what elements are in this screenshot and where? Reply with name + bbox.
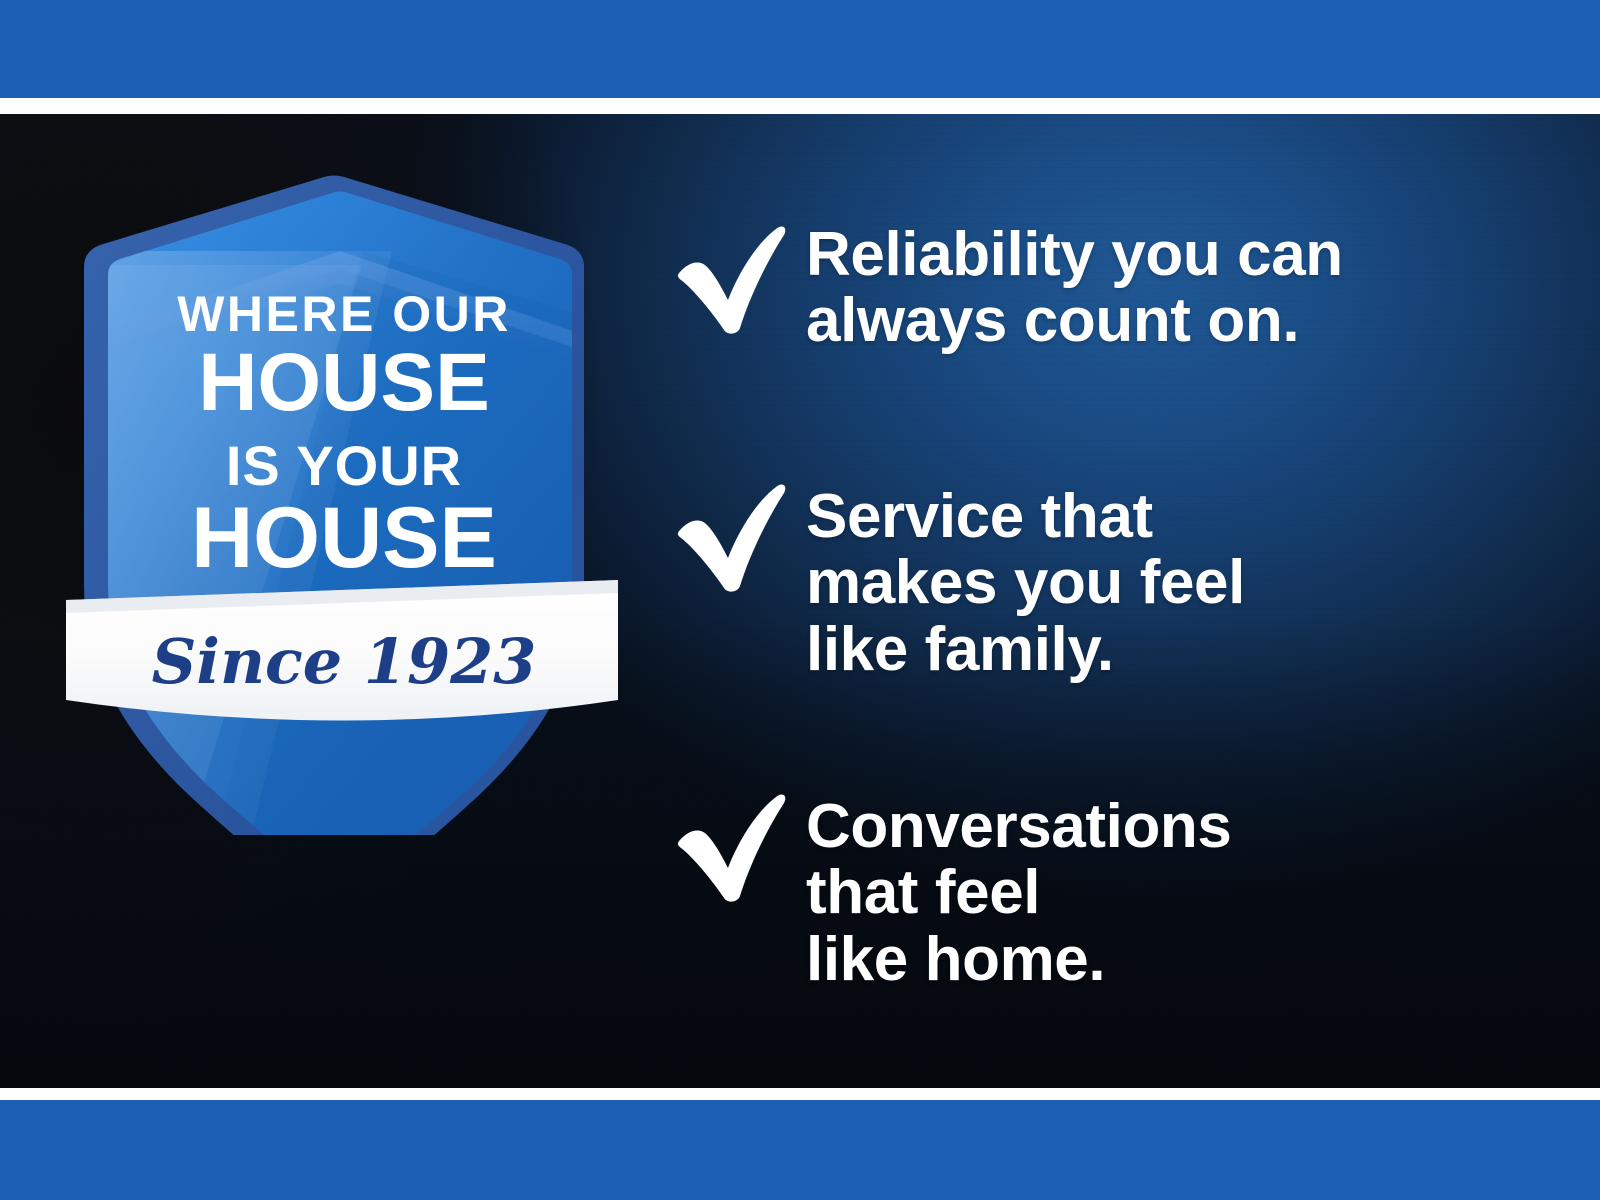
- since-ribbon: Since 1923: [66, 580, 618, 721]
- promo-graphic: WHERE OUR HOUSE IS YOUR HOUSE Since 1923…: [0, 0, 1600, 1200]
- bottom-brand-bar: [0, 1100, 1600, 1200]
- top-brand-bar: [0, 0, 1600, 98]
- checkmark-icon: [668, 786, 792, 904]
- company-logo: WHERE OUR HOUSE IS YOUR HOUSE Since 1923: [62, 155, 622, 835]
- shield-line-4: HOUSE: [191, 490, 497, 586]
- benefits-checklist: Reliability you can always count on. Ser…: [668, 114, 1568, 1088]
- since-ribbon-text: Since 1923: [152, 625, 537, 698]
- checklist-item-text: Service that makes you feel like family.: [806, 476, 1245, 683]
- shield-logo-graphic: WHERE OUR HOUSE IS YOUR HOUSE Since 1923: [62, 155, 622, 835]
- checkmark-icon: [668, 476, 792, 594]
- checklist-item-text: Reliability you can always count on.: [806, 218, 1343, 355]
- checkmark-icon: [668, 218, 792, 336]
- checklist-item-text: Conversations that feel like home.: [806, 786, 1231, 993]
- shield-line-1: WHERE OUR: [177, 286, 511, 342]
- checklist-item: Service that makes you feel like family.: [668, 476, 1245, 683]
- shield-line-2: HOUSE: [198, 337, 490, 428]
- checklist-item: Reliability you can always count on.: [668, 218, 1343, 355]
- checklist-item: Conversations that feel like home.: [668, 786, 1231, 993]
- shield-line-3: IS YOUR: [226, 434, 462, 497]
